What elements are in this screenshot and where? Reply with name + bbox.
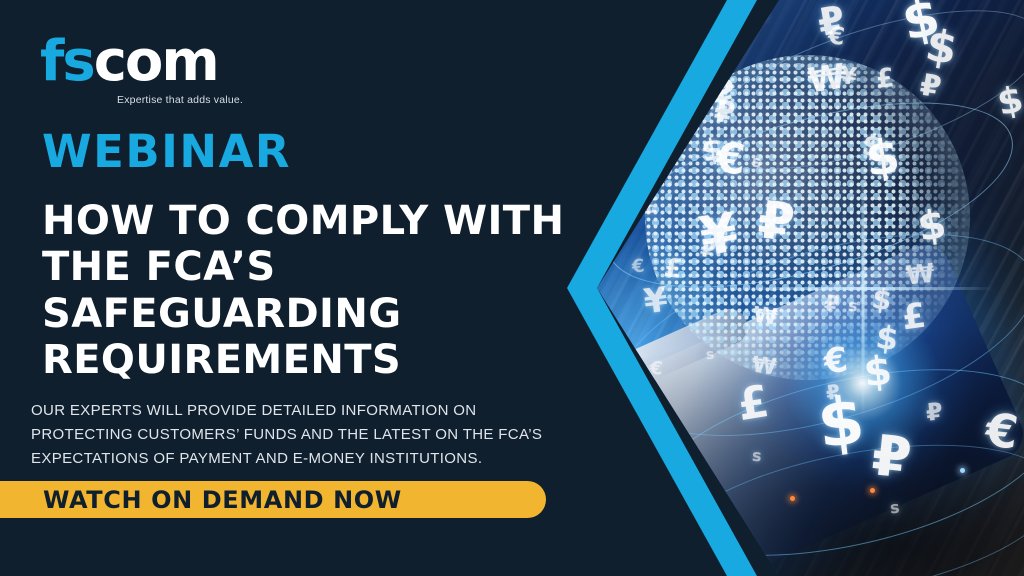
watch-on-demand-button[interactable]: WATCH ON DEMAND NOW (0, 481, 546, 518)
description-line: OUR EXPERTS WILL PROVIDE DETAILED INFORM… (31, 399, 611, 423)
description-line: EXPECTATIONS OF PAYMENT AND E-MONEY INST… (31, 447, 611, 471)
page-title-line: THE FCA’S (42, 244, 602, 290)
logo-fs-text: fs (40, 29, 94, 94)
fscom-logo[interactable]: fscom Expertise that adds value. (40, 34, 243, 106)
logo-tagline: Expertise that adds value. (117, 94, 243, 106)
description-line: PROTECTING CUSTOMERS’ FUNDS AND THE LATE… (31, 423, 611, 447)
page-title-line: HOW TO COMPLY WITH (42, 198, 602, 244)
content-column: fscom Expertise that adds value. WEBINAR… (0, 0, 620, 576)
orbit-node-icon (870, 488, 875, 493)
webinar-kicker: WEBINAR (42, 129, 291, 174)
globe-particle-dots (645, 55, 970, 380)
orbit-node-icon (960, 468, 965, 473)
logo-com-text: com (94, 29, 218, 94)
description-text: OUR EXPERTS WILL PROVIDE DETAILED INFORM… (31, 399, 611, 471)
orbit-node-icon (758, 12, 763, 17)
orbit-node-icon (790, 496, 795, 501)
page-title-line: REQUIREMENTS (42, 337, 602, 383)
logo-wordmark: fscom (40, 34, 243, 90)
page-title: HOW TO COMPLY WITHTHE FCA’SSAFEGUARDINGR… (42, 198, 602, 384)
cta-label: WATCH ON DEMAND NOW (43, 486, 402, 514)
webinar-promo-banner: ₽₽₽€$$₩¥£₽$$€s£$$¥₽$₽€£¥₩s₩$£₽€$$£₩$₽₽€₽… (0, 0, 1024, 576)
page-title-line: SAFEGUARDING (42, 291, 602, 337)
